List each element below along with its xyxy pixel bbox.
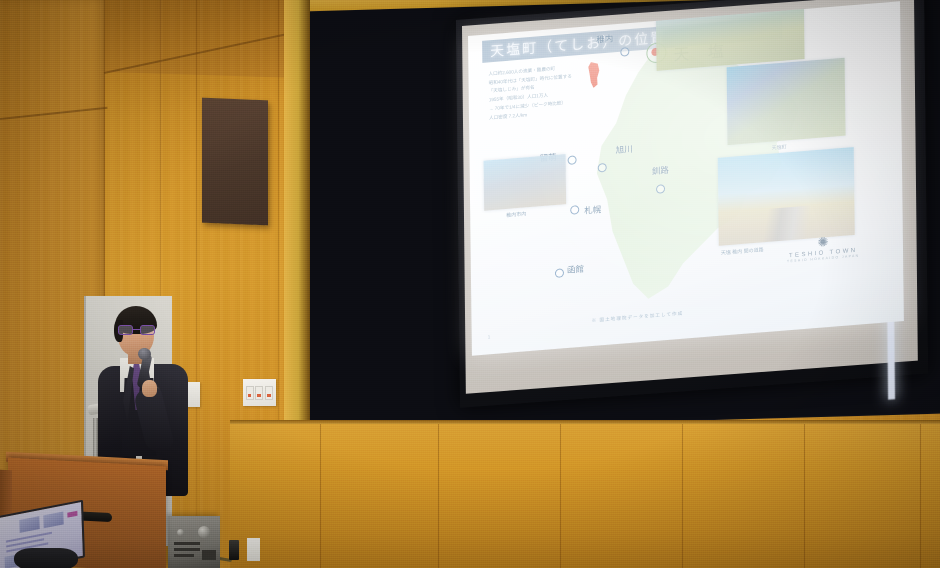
city-dot [555,268,564,278]
floor-device[interactable] [229,540,239,560]
photo-caption-teshio: 天塩町 [772,143,787,151]
projected-slide: 天塩町（てしお）の位置 人口約2,600人の漁業・酪農の町 昭和40年代は「天塩… [468,1,904,355]
lens-left [118,325,133,335]
city-dot [570,205,579,215]
proscenium-left-trim [284,0,310,430]
slide-page-number: 1 [488,334,491,339]
city-label-sapporo: 札幌 [584,203,601,216]
acoustic-panel [202,98,268,226]
panel-seam [438,424,439,568]
slide-body-text: 人口約2,600人の漁業・酪農の町 昭和40年代は「天塩町」時代に位置する 「天… [488,60,617,123]
rack-slot [174,554,194,557]
stage-front-panel [230,424,940,568]
city-label-wakkanai: 稚内 [596,32,613,45]
laptop-content-card [43,511,63,528]
presentation-room-photo: 天塩町（てしお）の位置 人口約2,600人の漁業・酪農の町 昭和40年代は「天塩… [0,0,940,568]
rack-slot [174,542,200,545]
photo-caption-wakkanai: 稚内市内 [506,210,526,219]
light-switch[interactable] [246,386,254,400]
photo-caption-road: 天塩 稚内 間の道路 [721,246,764,256]
city-label-kushiro: 釧路 [652,164,669,177]
laptop-content-card [19,516,39,533]
panel-seam [560,424,561,568]
panel-seam [920,424,921,568]
light-switch[interactable] [255,386,263,400]
panel-seam [682,424,683,568]
teshio-town-logo: ✺ TESHIO TOWN TESHIO HOKKAIDO JAPAN [787,233,860,264]
eyeglasses [118,325,155,335]
city-label-hakodate: 函館 [567,263,584,276]
rack-slot [174,548,200,551]
city-dot [620,47,629,57]
laptop-accent [67,511,77,518]
wall-seam [196,0,197,568]
city-dot [568,155,577,165]
laptop-base [14,548,78,568]
photo-townscape [484,154,567,211]
panel-seam [320,424,321,568]
photo-road [718,147,855,246]
hand [142,380,157,397]
light-switch[interactable] [265,386,273,400]
glasses-bridge [133,329,140,330]
city-label-asahikawa: 旭川 [615,143,632,156]
slide-footer-note: ※ 国土地理院データを加工して作成 [592,311,684,324]
light-switch-plate[interactable] [243,379,276,406]
wall-plate-lower[interactable] [247,538,260,561]
panel-seam [804,424,805,568]
rack-knob[interactable] [198,526,210,538]
lens-right [140,325,155,335]
photo-aerial-coast-town [727,58,846,145]
rack-slot [202,550,216,560]
